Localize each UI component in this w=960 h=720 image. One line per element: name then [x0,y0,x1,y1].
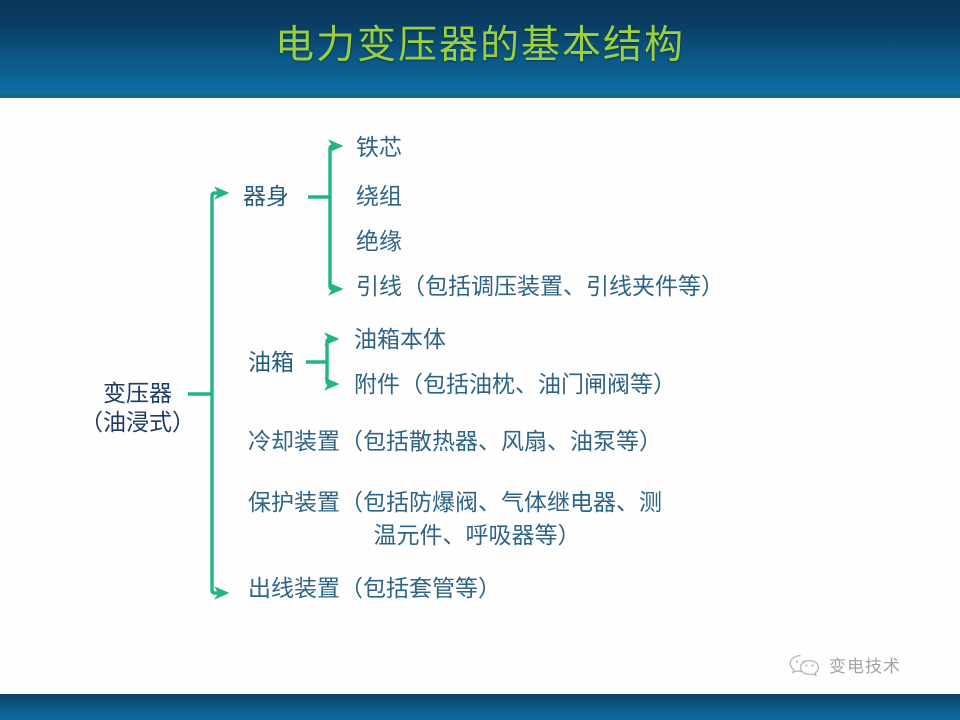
title-bar-underline [0,94,960,98]
wechat-icon [788,653,822,677]
node-youxiang-child-benti: 油箱本体 [354,325,446,355]
page-title: 电力变压器的基本结构 [0,16,960,76]
node-qishen-child-yinxian: 引线（包括调压装置、引线夹件等） [356,272,724,302]
node-root: 变压器 （油浸式） [70,380,205,438]
node-lengque-zhuangzhi: 冷却装置（包括散热器、风扇、油泵等） [248,427,662,457]
node-youxiang: 油箱 [248,348,294,378]
node-youxiang-child-fujian: 附件（包括油枕、油门闸阀等） [354,370,676,400]
watermark: 变电技术 [788,652,901,677]
footer-bar [0,694,960,720]
node-qishen: 器身 [243,182,289,212]
watermark-label: 变电技术 [829,652,901,677]
qishen-arm-bottom [330,283,340,289]
node-qishen-child-raozu: 绕组 [356,182,402,212]
node-baohu-zhuangzhi: 保护装置（包括防爆阀、气体继电器、测 温元件、呼吸器等） [248,487,748,553]
node-root-line1: 变压器 [70,380,205,409]
node-root-line2: （油浸式） [70,409,205,438]
node-baohu-line2: 温元件、呼吸器等） [248,520,748,553]
qishen-arm-top [330,146,340,152]
youxiang-arm-bottom [327,378,336,384]
main-arm-to-chuxian [212,585,226,593]
slide-canvas: 电力变压器的基本结构 [0,0,960,720]
node-chuxian-zhuangzhi: 出线装置（包括套管等） [248,574,501,604]
diagram-connectors [0,0,960,720]
main-arm-to-qishen [212,193,226,201]
node-qishen-child-tiexin: 铁芯 [356,133,402,163]
youxiang-arm-top [327,339,336,345]
node-baohu-line1: 保护装置（包括防爆阀、气体继电器、测 [248,487,748,520]
node-qishen-child-jueyuan: 绝缘 [356,227,402,257]
